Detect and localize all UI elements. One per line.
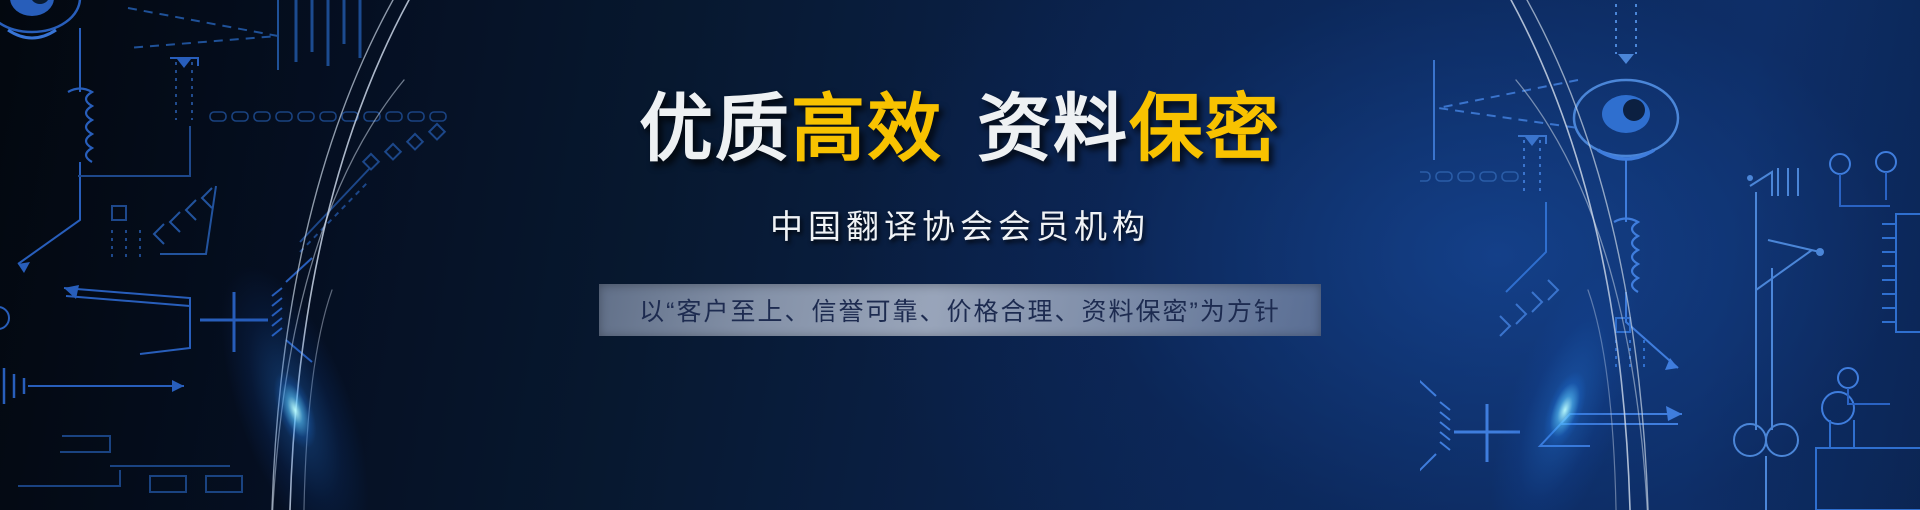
banner-content: 优质高效资料保密 中国翻译协会会员机构 以“客户至上、信誉可靠、价格合理、资料保… [0, 0, 1920, 510]
headline-segment-1: 优质 [639, 87, 791, 170]
tagline-text: 以“客户至上、信誉可靠、价格合理、资料保密”为方针 [639, 292, 1281, 328]
hero-banner: 优质高效资料保密 中国翻译协会会员机构 以“客户至上、信誉可靠、价格合理、资料保… [0, 0, 1920, 510]
headline-segment-2: 高效 [791, 87, 943, 170]
banner-subtitle: 中国翻译协会会员机构 [770, 200, 1150, 248]
banner-headline: 优质高效资料保密 [639, 92, 1281, 166]
headline-segment-4: 保密 [1129, 87, 1281, 170]
tagline-bar: 以“客户至上、信誉可靠、价格合理、资料保密”为方针 [599, 284, 1321, 336]
headline-segment-3: 资料 [977, 87, 1129, 170]
